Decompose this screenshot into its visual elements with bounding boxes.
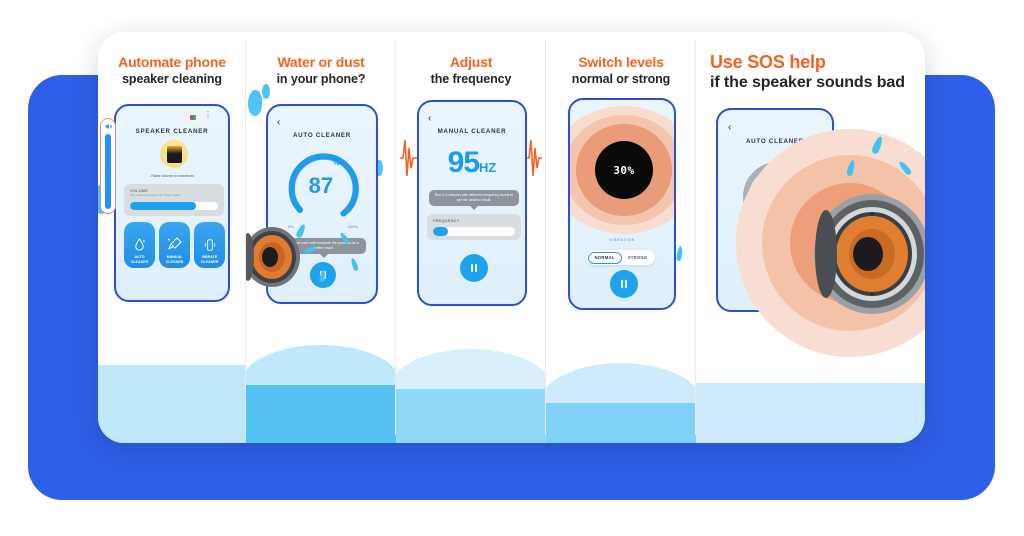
frequency-label: FREQUENCY (433, 219, 515, 223)
vibration-rings: 30% (568, 106, 676, 234)
volume-card: VOLUME Set maximum volume for better res… (124, 184, 224, 216)
volume-slider[interactable] (130, 202, 218, 210)
speaker-volume-icon (104, 122, 113, 131)
frequency-value: 95 (448, 146, 479, 179)
phone1-screen-title: SPEAKER CLEANER (116, 128, 228, 135)
panel4-headline-block: Switch levels normal or strong (546, 32, 696, 87)
frequency-unit: HZ (479, 160, 496, 175)
panel2-headline: Water or dust (246, 54, 396, 71)
panel-water-dust: Water or dust in your phone? ‹ AUTO CLEA… (246, 32, 396, 443)
tile-auto-cleaner[interactable]: AUTO CLEANER (124, 222, 155, 268)
tile-vibrate-line2: CLEANER (201, 260, 218, 264)
notification-badge-icon (190, 115, 196, 120)
panel1-headline: Automate phone (98, 54, 246, 71)
gauge-value: 87 (309, 175, 333, 197)
level-segmented-control[interactable]: NORMAL STRONG (586, 250, 655, 265)
gauge-value-group: 87 % (286, 148, 362, 224)
progress-gauge-2: 87 % (286, 148, 362, 224)
white-content-card: Automate phone speaker cleaning ⋮ SPEAKE… (98, 32, 925, 443)
frequency-readout: 95HZ (419, 146, 525, 180)
panel4-subheadline: normal or strong (546, 71, 696, 87)
panel1-headline-block: Automate phone speaker cleaning (98, 32, 246, 87)
phone1-note: - Raise volume to maximum. (116, 174, 228, 178)
panel-frequency: Adjust the frequency ‹ MANUAL CLEANER 95… (396, 32, 546, 443)
back-button[interactable]: ‹ (728, 122, 731, 133)
panel-levels: Switch levels normal or strong 30% VIBRA… (546, 32, 696, 443)
water-drop-4a (676, 246, 683, 262)
phone4-side-button[interactable] (675, 166, 676, 192)
back-button[interactable]: ‹ (428, 113, 431, 124)
frequency-card: FREQUENCY (427, 214, 521, 240)
brush-icon (167, 236, 183, 252)
pause-button[interactable] (610, 270, 638, 298)
gauge-unit: % (333, 160, 339, 167)
phone-frame-4: 30% VIBRATION NORMAL STRONG (568, 98, 676, 310)
splash-2a (248, 90, 262, 116)
panel3-subheadline: the frequency (396, 71, 546, 87)
vibration-core: 30% (595, 141, 653, 199)
tile-manual-cleaner[interactable]: MANUAL CLEANER (159, 222, 190, 268)
water-drop-icon (132, 237, 147, 252)
pause-button[interactable] (460, 254, 488, 282)
phone-frame-3: ‹ MANUAL CLEANER 95HZ Run 2-3 minutes wi… (417, 100, 527, 306)
panel5-subheadline: if the speaker sounds bad (710, 73, 925, 93)
panel-strip: Automate phone speaker cleaning ⋮ SPEAKE… (98, 32, 925, 443)
gauge-max-label: 100% (348, 224, 358, 229)
panel2-headline-block: Water or dust in your phone? (246, 32, 396, 87)
volume-overlay-slider[interactable] (100, 118, 116, 214)
vibrate-phone-icon (203, 238, 217, 252)
frequency-slider-fill (433, 227, 448, 236)
tile-auto-line2: CLEANER (131, 260, 148, 264)
vibration-caption: VIBRATION (570, 238, 674, 242)
phone2-side-button[interactable] (377, 162, 378, 184)
phone3-side-button[interactable] (526, 158, 527, 180)
frequency-slider[interactable] (433, 227, 515, 236)
panel-automate: Automate phone speaker cleaning ⋮ SPEAKE… (98, 32, 246, 443)
panel4-wave (546, 363, 696, 403)
speaker-graphic-5 (808, 188, 925, 322)
hint-tooltip-3: Run 2-3 minutes with different frequency… (429, 190, 519, 206)
panel2-subheadline: in your phone? (246, 71, 396, 87)
volume-sub: Set maximum volume for better result. (130, 193, 218, 197)
phone3-screen-title: MANUAL CLEANER (419, 128, 525, 135)
panel2-wave (246, 345, 396, 385)
panel3-headline-block: Adjust the frequency (396, 32, 546, 87)
speaker-graphic-2 (246, 222, 306, 292)
level-option-normal[interactable]: NORMAL (588, 252, 622, 264)
phone2-screen-title: AUTO CLEANER (268, 132, 376, 139)
panel-sos: Use SOS help if the speaker sounds bad ‹… (696, 32, 925, 443)
volume-slider-fill (130, 202, 196, 210)
phone-frame-1: ⋮ SPEAKER CLEANER - Raise volume to maxi… (114, 104, 230, 302)
back-button[interactable]: ‹ (277, 117, 280, 128)
tile-vibrate-cleaner[interactable]: VIBRATE CLEANER (194, 222, 225, 268)
phone1-side-button[interactable] (229, 158, 230, 178)
panel4-headline: Switch levels (546, 54, 696, 71)
panel3-wave (396, 349, 546, 389)
app-icon (160, 140, 188, 168)
volume-overlay-bar (105, 134, 111, 209)
tile-manual-line2: CLEANER (166, 260, 183, 264)
action-tiles: AUTO CLEANER MANUAL CLEANER (124, 222, 225, 268)
panel5-water-bg (696, 383, 925, 443)
panel1-subheadline: speaker cleaning (98, 71, 246, 87)
panel3-headline: Adjust (396, 54, 546, 71)
overflow-menu-icon[interactable]: ⋮ (204, 113, 212, 117)
screenshot-root: Automate phone speaker cleaning ⋮ SPEAKE… (0, 0, 1024, 536)
level-option-strong[interactable]: STRONG (622, 253, 654, 263)
panel5-headline-block: Use SOS help if the speaker sounds bad (696, 32, 925, 93)
panel1-water-bg (98, 365, 246, 443)
panel5-headline: Use SOS help (710, 52, 925, 73)
